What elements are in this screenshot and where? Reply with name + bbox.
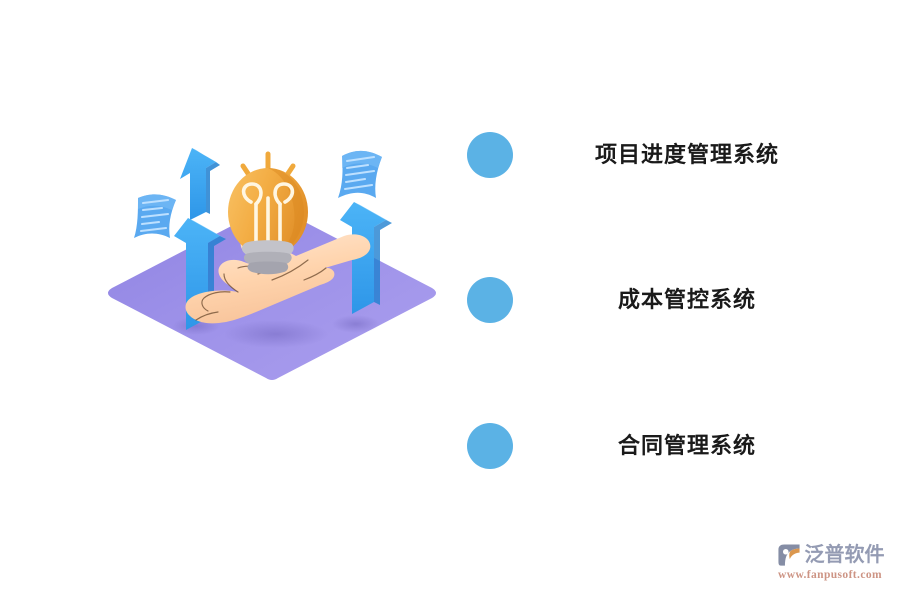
hand-holding-lightbulb-illustration: [80, 140, 460, 420]
feature-label-1: 成本管控系统: [513, 287, 875, 313]
document-paper-left-icon: [134, 194, 176, 238]
watermark-url-text: www.fanpusoft.com: [778, 570, 882, 582]
screenshot-canvas: 项目进度管理系统 成本管控系统 合同管理系统 泛普软件 www.fanpusof…: [0, 0, 900, 600]
fanpu-logo-icon: [776, 542, 802, 568]
bullet-dot-icon: [467, 277, 513, 323]
bullet-dot-icon: [467, 423, 513, 469]
feature-label-0: 项目进度管理系统: [513, 142, 875, 168]
watermark-brand-text: 泛普软件: [805, 545, 885, 565]
feature-item-1[interactable]: 成本管控系统: [455, 270, 875, 330]
watermark: 泛普软件 www.fanpusoft.com: [770, 534, 890, 590]
arrow-shadow-right: [332, 315, 380, 333]
feature-item-0[interactable]: 项目进度管理系统: [455, 125, 875, 185]
bulb-base-shape: [242, 240, 294, 274]
illustration-svg: [80, 140, 460, 420]
feature-label-2: 合同管理系统: [513, 433, 875, 459]
hand-shadow: [224, 320, 328, 348]
feature-item-2[interactable]: 合同管理系统: [455, 416, 875, 476]
document-paper-right-icon: [338, 151, 382, 198]
arrow-up-back-icon: [180, 148, 220, 220]
watermark-brand-row: 泛普软件: [776, 542, 885, 568]
bullet-dot-icon: [467, 132, 513, 178]
